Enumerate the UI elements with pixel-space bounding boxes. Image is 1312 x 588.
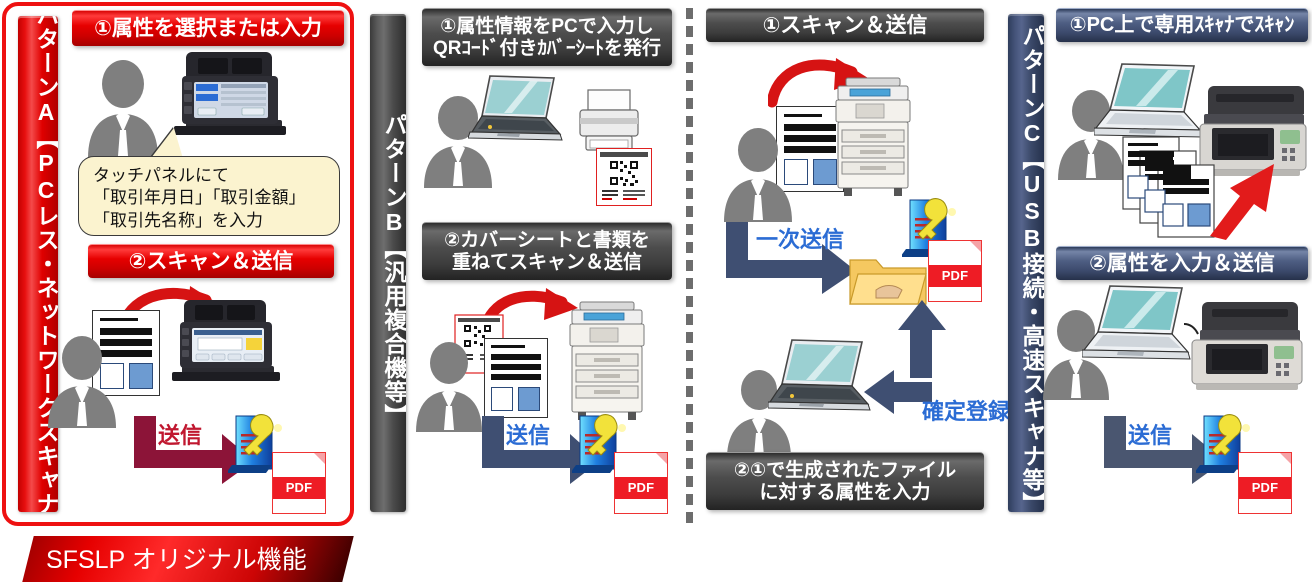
laptop-icon xyxy=(1094,60,1204,145)
pdf-file-icon: PDF xyxy=(1238,452,1292,514)
mfp-copier-icon xyxy=(828,76,918,207)
network-scanner-device xyxy=(168,296,284,393)
panel-pattern-b: パターンB【汎用複合機等】 ①属性情報をPCで入力し QRｺｰﾄﾞ付きｶﾊﾞｰｼ… xyxy=(360,0,680,528)
pdf-file-icon: PDF xyxy=(272,452,326,514)
send-label-a: 送信 xyxy=(158,418,202,450)
panel-pattern-c: パターンC【USB接続・高速スキャナ等】 ①PC上で専用ｽｷｬﾅでｽｷｬﾝ xyxy=(1000,0,1312,528)
high-speed-scanner-icon xyxy=(1182,300,1306,401)
sidebar-label-pattern-b: パターンB【汎用複合機等】 xyxy=(370,14,406,512)
step-header-a1[interactable]: ①属性を選択または入力 xyxy=(72,10,344,46)
sidebar-label-pattern-a: パターンA【PCレス・ネットワークスキャナ】 xyxy=(18,16,58,512)
send-label-c: 送信 xyxy=(1128,418,1172,450)
callout-bubble-a: タッチパネルにて 「取引年月日」「取引金額」 「取引先名称」を入力 xyxy=(78,156,340,236)
panel-pattern-a: パターンA【PCレス・ネットワークスキャナ】 ①属性を選択または入力 xyxy=(0,0,356,528)
pdf-file-icon: PDF xyxy=(614,452,668,514)
document-page xyxy=(484,338,548,418)
step-header-b1[interactable]: ①属性情報をPCで入力し QRｺｰﾄﾞ付きｶﾊﾞｰｼｰﾄを発行 xyxy=(422,8,672,66)
step-header-b3-1[interactable]: ①スキャン＆送信 xyxy=(706,8,984,42)
confirm-register-label: 確定登録 xyxy=(922,394,1010,426)
laptop-icon xyxy=(468,72,564,149)
step-header-b2[interactable]: ②カバーシートと書類を 重ねてスキャン＆送信 xyxy=(422,222,672,280)
sfslp-banner-label: SFSLP オリジナル機能 xyxy=(46,544,346,576)
person-icon xyxy=(42,336,122,433)
step-header-c2[interactable]: ②属性を入力＆送信 xyxy=(1056,246,1308,280)
pdf-label: PDF xyxy=(929,265,981,287)
person-icon xyxy=(718,128,798,227)
panel-pattern-b-step2: ①スキャン＆送信 xyxy=(700,0,1000,528)
network-scanner-device xyxy=(168,46,292,151)
pdf-label: PDF xyxy=(273,477,325,499)
step-header-b3-2[interactable]: ②①で生成されたファイル に対する属性を入力 xyxy=(706,452,984,510)
laptop-icon xyxy=(1082,282,1192,369)
send-label-b: 送信 xyxy=(506,418,550,450)
laptop-icon xyxy=(768,336,872,419)
step-header-c1[interactable]: ①PC上で専用ｽｷｬﾅでｽｷｬﾝ xyxy=(1056,8,1308,42)
diagram-canvas: パターンA【PCレス・ネットワークスキャナ】 ①属性を選択または入力 xyxy=(0,0,1312,588)
sidebar-label-pattern-c: パターンC【USB接続・高速スキャナ等】 xyxy=(1008,14,1044,512)
primary-send-label: 一次送信 xyxy=(756,222,844,254)
qr-cover-sheet-icon xyxy=(596,148,652,206)
red-feed-arrow-icon xyxy=(1208,162,1288,245)
person-icon xyxy=(410,342,488,437)
pdf-label: PDF xyxy=(1239,477,1291,499)
pdf-file-icon: PDF xyxy=(928,240,982,302)
panel-separator xyxy=(686,8,693,528)
pdf-label: PDF xyxy=(615,477,667,499)
step-header-a2[interactable]: ②スキャン＆送信 xyxy=(88,244,334,278)
